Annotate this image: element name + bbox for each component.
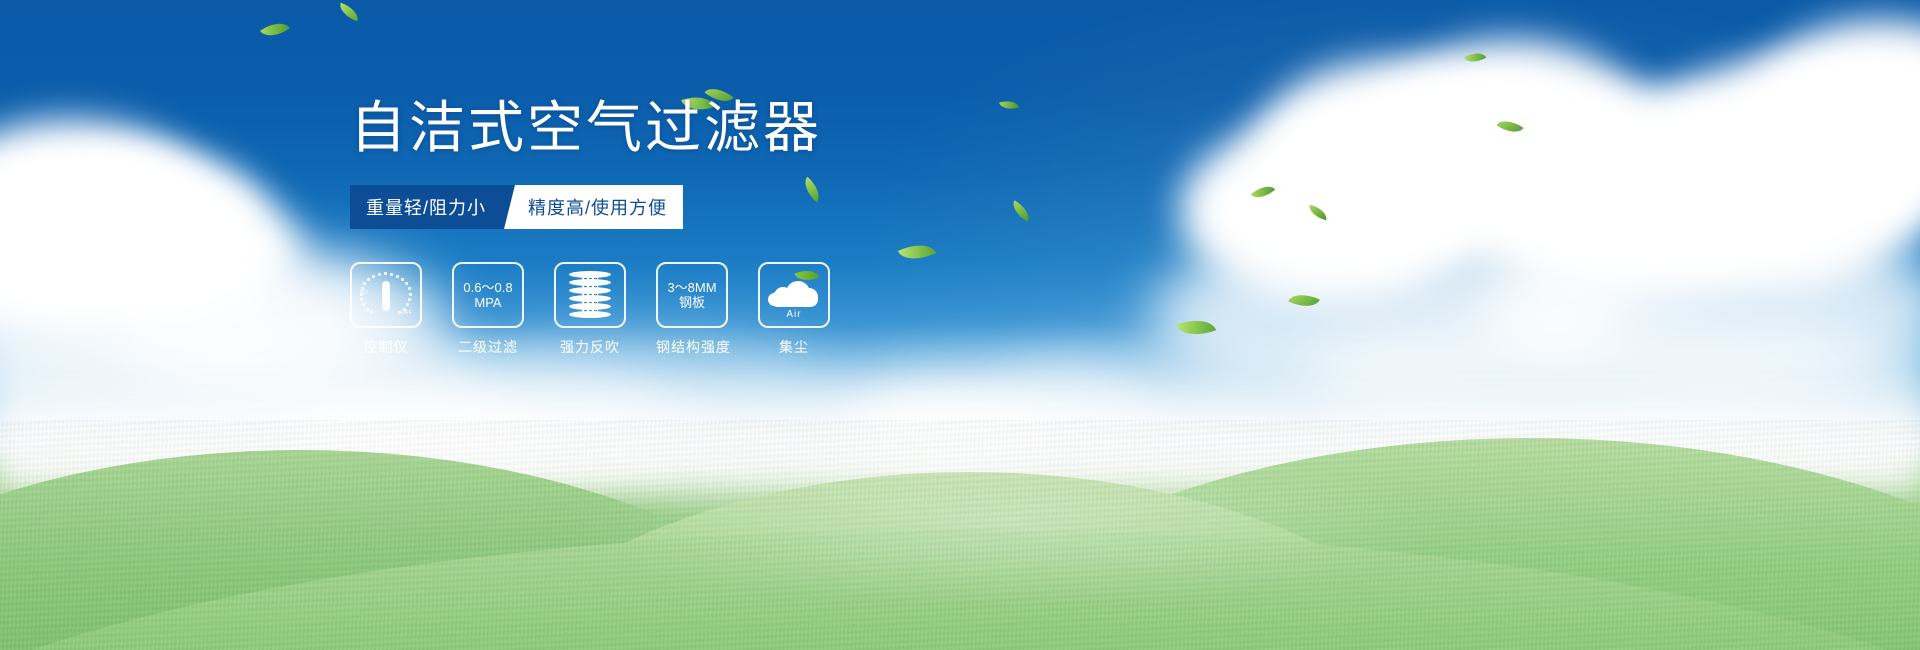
leaf-icon bbox=[1176, 312, 1216, 342]
cloud-decoration bbox=[0, 160, 300, 340]
feature-item-pressure[interactable]: 0.6～0.8 MPA 二级过滤 bbox=[452, 262, 524, 357]
grass-field bbox=[0, 420, 1920, 650]
leaf-icon bbox=[1496, 114, 1523, 138]
cloud-decoration bbox=[1150, 230, 1630, 400]
feature-caption-controller: 控制仪 bbox=[350, 337, 422, 357]
leaf-icon bbox=[337, 3, 362, 22]
cloud-decoration bbox=[1180, 120, 1480, 300]
tagline-tab-group: 重量轻/阻力小 精度高/使用方便 bbox=[350, 185, 672, 229]
steel-value-line1: 3～8MM bbox=[667, 280, 716, 295]
feature-item-dust[interactable]: Air 集尘 bbox=[758, 262, 830, 357]
cloud-decoration bbox=[1250, 60, 1530, 260]
feature-box-steel: 3～8MM 钢板 bbox=[656, 262, 728, 328]
feature-box-backblow bbox=[554, 262, 626, 328]
gauge-label-off: OFF bbox=[401, 310, 412, 316]
steel-value-line2: 钢板 bbox=[679, 295, 705, 310]
tab-weight-resistance-label: 重量轻/阻力小 bbox=[366, 194, 486, 220]
leaf-icon bbox=[260, 16, 290, 43]
feature-item-backblow[interactable]: 强力反吹 bbox=[554, 262, 626, 357]
cloud-decoration bbox=[1620, 60, 1920, 290]
tab-precision-convenience[interactable]: 精度高/使用方便 bbox=[504, 185, 683, 229]
cloud-decoration bbox=[1480, 220, 1920, 400]
filter-stack-icon bbox=[569, 271, 611, 319]
gauge-label-no: NO bbox=[360, 290, 368, 296]
leaf-icon bbox=[1288, 288, 1320, 313]
hero-content: 自洁式空气过滤器 重量轻/阻力小 精度高/使用方便 bbox=[350, 100, 1110, 357]
feature-box-pressure: 0.6～0.8 MPA bbox=[452, 262, 524, 328]
feature-box-dust: Air bbox=[758, 262, 830, 328]
feature-caption-steel: 钢结构强度 bbox=[656, 337, 728, 357]
feature-item-controller[interactable]: NO OFF 控制仪 bbox=[350, 262, 422, 357]
leaf-icon bbox=[1464, 48, 1487, 67]
feature-box-controller: NO OFF bbox=[350, 262, 422, 328]
cloud-decoration bbox=[1470, 90, 1800, 300]
pressure-value-line2: MPA bbox=[474, 295, 501, 310]
gauge-icon: NO OFF bbox=[361, 272, 411, 318]
feature-icon-row: NO OFF 控制仪 0.6～0.8 MPA 二级过滤 bbox=[350, 262, 1110, 357]
cloud-air-icon: Air bbox=[766, 273, 822, 317]
cloud-decoration bbox=[1740, 20, 1920, 220]
product-hero-banner: 自洁式空气过滤器 重量轻/阻力小 精度高/使用方便 bbox=[0, 0, 1920, 650]
feature-caption-pressure: 二级过滤 bbox=[452, 337, 524, 357]
tab-weight-resistance[interactable]: 重量轻/阻力小 bbox=[350, 185, 504, 229]
air-label: Air bbox=[766, 309, 822, 320]
cloud-decoration bbox=[0, 250, 380, 400]
leaf-icon bbox=[1307, 205, 1329, 221]
gauge-needle bbox=[382, 281, 390, 311]
tab-precision-convenience-label: 精度高/使用方便 bbox=[528, 194, 667, 220]
cloud-decoration bbox=[30, 150, 260, 290]
cloud-decoration bbox=[0, 120, 200, 270]
feature-caption-dust: 集尘 bbox=[758, 337, 830, 357]
cloud-decoration bbox=[1360, 40, 1660, 260]
feature-item-steel[interactable]: 3～8MM 钢板 钢结构强度 bbox=[656, 262, 728, 357]
page-title: 自洁式空气过滤器 bbox=[350, 100, 1110, 156]
pressure-value-line1: 0.6～0.8 bbox=[463, 280, 512, 295]
leaf-icon bbox=[1251, 180, 1276, 203]
feature-caption-backblow: 强力反吹 bbox=[554, 337, 626, 357]
